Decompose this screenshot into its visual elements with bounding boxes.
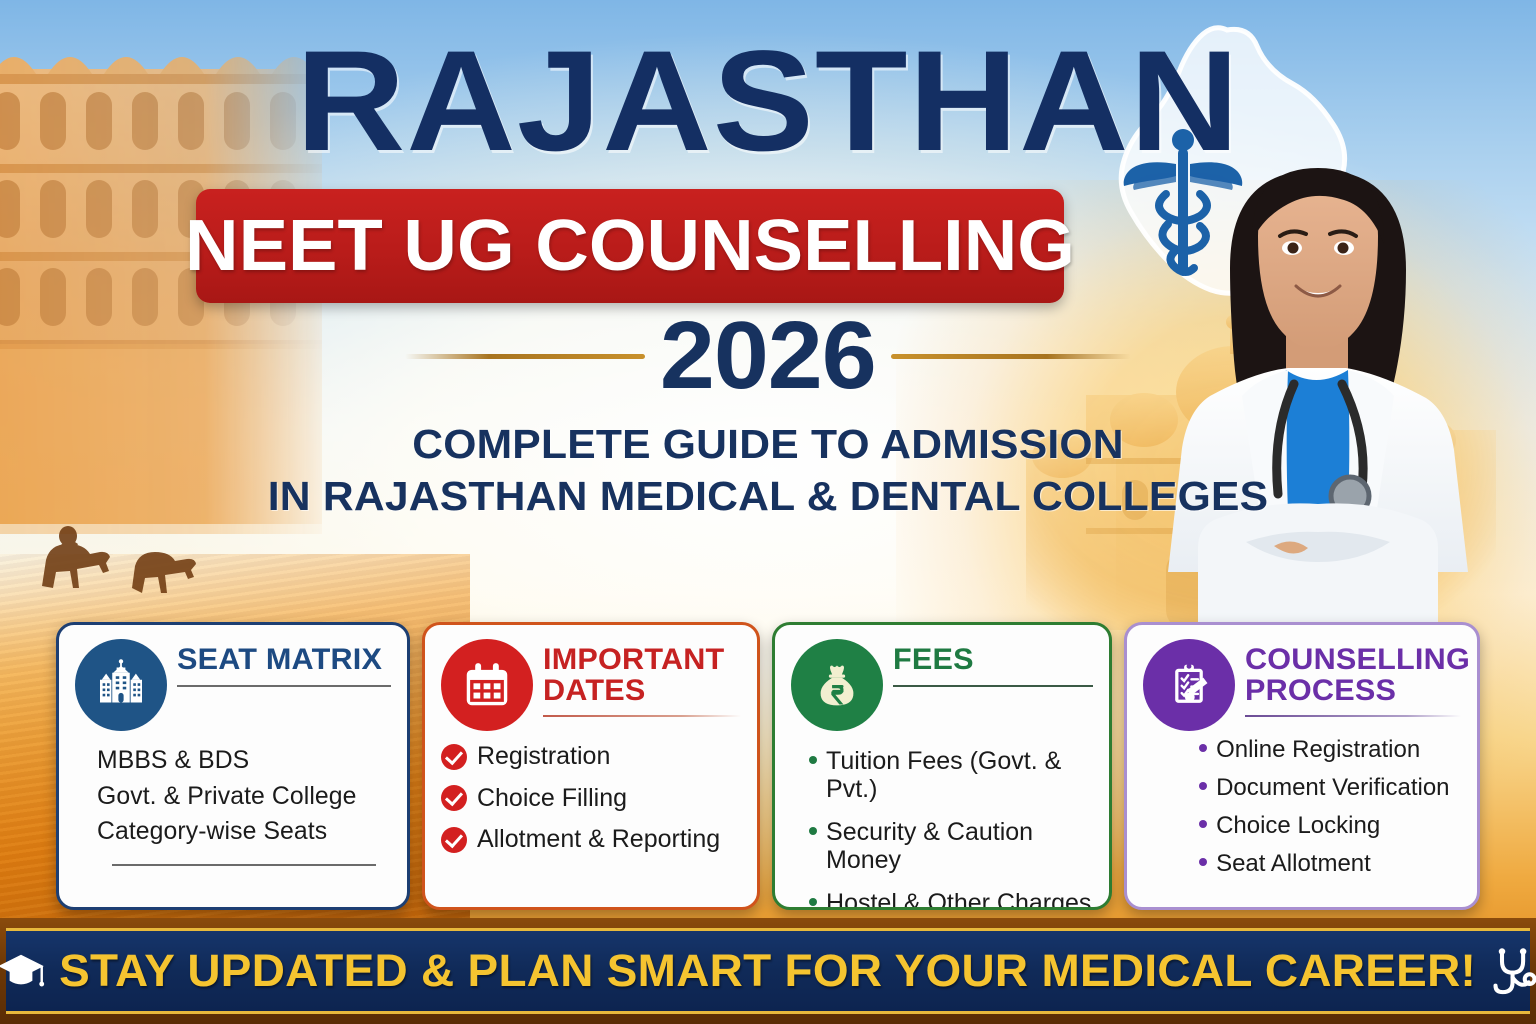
bullet-icon [809, 898, 817, 906]
card-list: Registration Choice Filling Allotment & … [441, 743, 741, 854]
year-row: 2026 [0, 308, 1536, 404]
list-item-label: Document Verification [1216, 775, 1449, 802]
card-header: FEES [791, 639, 1093, 731]
list-item: Hostel & Other Charges [809, 889, 1093, 910]
card-header-text: COUNSELLING PROCESS [1245, 639, 1461, 717]
card-body: MBBS & BDS Govt. & Private College Categ… [75, 743, 391, 866]
card-header-text: FEES [893, 639, 1093, 687]
card-list: Online Registration Document Verificatio… [1199, 737, 1461, 878]
card-fees[interactable]: FEES Tuition Fees (Govt. & Pvt.) Securit… [772, 622, 1112, 910]
check-icon [441, 744, 467, 770]
list-item-label: Choice Locking [1216, 813, 1380, 840]
list-item-label: Tuition Fees (Govt. & Pvt.) [826, 747, 1093, 803]
bullet-icon [1199, 782, 1207, 790]
subtitle-banner-text: NEET UG COUNSELLING [185, 205, 1075, 287]
card-title: COUNSELLING PROCESS [1245, 645, 1465, 706]
decorative-line-left [405, 354, 645, 359]
title-divider [177, 685, 391, 687]
list-item-label: Online Registration [1216, 737, 1420, 764]
card-title: FEES [893, 645, 1097, 676]
list-item: Document Verification [1199, 775, 1461, 802]
subtitle-line-2: IN RAJASTHAN MEDICAL & DENTAL COLLEGES [0, 470, 1536, 522]
calendar-icon [441, 639, 533, 731]
list-item: Tuition Fees (Govt. & Pvt.) [809, 747, 1093, 803]
list-item: Choice Locking [1199, 813, 1461, 840]
list-item-label: Security & Caution Money [826, 818, 1093, 874]
bullet-icon [1199, 858, 1207, 866]
clipboard-checklist-icon [1143, 639, 1235, 731]
subtitle-banner: NEET UG COUNSELLING [196, 189, 1064, 303]
subtitle-line-1: COMPLETE GUIDE TO ADMISSION [0, 418, 1536, 470]
card-seat-matrix[interactable]: SEAT MATRIX MBBS & BDS Govt. & Private C… [56, 622, 410, 910]
poster-root: RAJASTHAN NEET UG COUNSELLING 2026 COMPL… [0, 0, 1536, 1024]
card-header-text: IMPORTANT DATES [543, 639, 741, 717]
bullet-icon [809, 827, 817, 835]
list-item: Registration [441, 743, 741, 771]
list-item: Choice Filling [441, 785, 741, 813]
card-list: Tuition Fees (Govt. & Pvt.) Security & C… [809, 747, 1093, 910]
footer-inner: STAY UPDATED & PLAN SMART FOR YOUR MEDIC… [6, 928, 1530, 1014]
title-divider [893, 685, 1093, 687]
bullet-icon [1199, 820, 1207, 828]
card-body: Online Registration Document Verificatio… [1143, 737, 1461, 878]
list-item-label: Hostel & Other Charges [826, 889, 1091, 910]
card-header: SEAT MATRIX [75, 639, 391, 731]
list-item: Govt. & Private College [97, 779, 388, 815]
list-item-label: Choice Filling [477, 785, 627, 813]
card-header-text: SEAT MATRIX [177, 639, 391, 687]
card-counselling-process[interactable]: COUNSELLING PROCESS Online Registration … [1124, 622, 1480, 910]
list-item: Online Registration [1199, 737, 1461, 764]
decorative-line-right [891, 354, 1131, 359]
list-item-label: Allotment & Reporting [477, 826, 720, 854]
college-building-icon [75, 639, 167, 731]
footer-text: STAY UPDATED & PLAN SMART FOR YOUR MEDIC… [59, 945, 1476, 997]
list-item: Category-wise Seats [97, 814, 388, 850]
card-body: Tuition Fees (Govt. & Pvt.) Security & C… [791, 747, 1093, 910]
headline-block: RAJASTHAN [0, 34, 1536, 170]
title-divider [543, 715, 741, 717]
subtitle-block: COMPLETE GUIDE TO ADMISSION IN RAJASTHAN… [0, 418, 1536, 523]
card-body: Registration Choice Filling Allotment & … [441, 743, 741, 854]
year-label: 2026 [660, 308, 876, 404]
list-item: Seat Allotment [1199, 851, 1461, 878]
info-cards-row: SEAT MATRIX MBBS & BDS Govt. & Private C… [56, 622, 1480, 910]
list-item: Security & Caution Money [809, 818, 1093, 874]
card-list: MBBS & BDS Govt. & Private College Categ… [97, 743, 391, 850]
list-item-label: Seat Allotment [1216, 851, 1371, 878]
list-item: MBBS & BDS [97, 743, 388, 779]
stethoscope-icon [1489, 945, 1536, 997]
list-item: Allotment & Reporting [441, 826, 741, 854]
bullet-icon [809, 756, 817, 764]
check-icon [441, 785, 467, 811]
title-divider [1245, 715, 1461, 717]
money-bag-rupee-icon [791, 639, 883, 731]
card-title: IMPORTANT DATES [543, 645, 745, 706]
bottom-divider [112, 864, 377, 866]
bullet-icon [1199, 744, 1207, 752]
graduation-cap-icon [0, 945, 47, 997]
list-item-label: Registration [477, 743, 610, 771]
card-header: IMPORTANT DATES [441, 639, 741, 731]
card-header: COUNSELLING PROCESS [1143, 639, 1461, 731]
card-important-dates[interactable]: IMPORTANT DATES Registration Choice Fill… [422, 622, 760, 910]
page-title: RAJASTHAN [0, 34, 1536, 170]
card-title: SEAT MATRIX [177, 645, 395, 676]
check-icon [441, 827, 467, 853]
footer-banner: STAY UPDATED & PLAN SMART FOR YOUR MEDIC… [0, 918, 1536, 1024]
